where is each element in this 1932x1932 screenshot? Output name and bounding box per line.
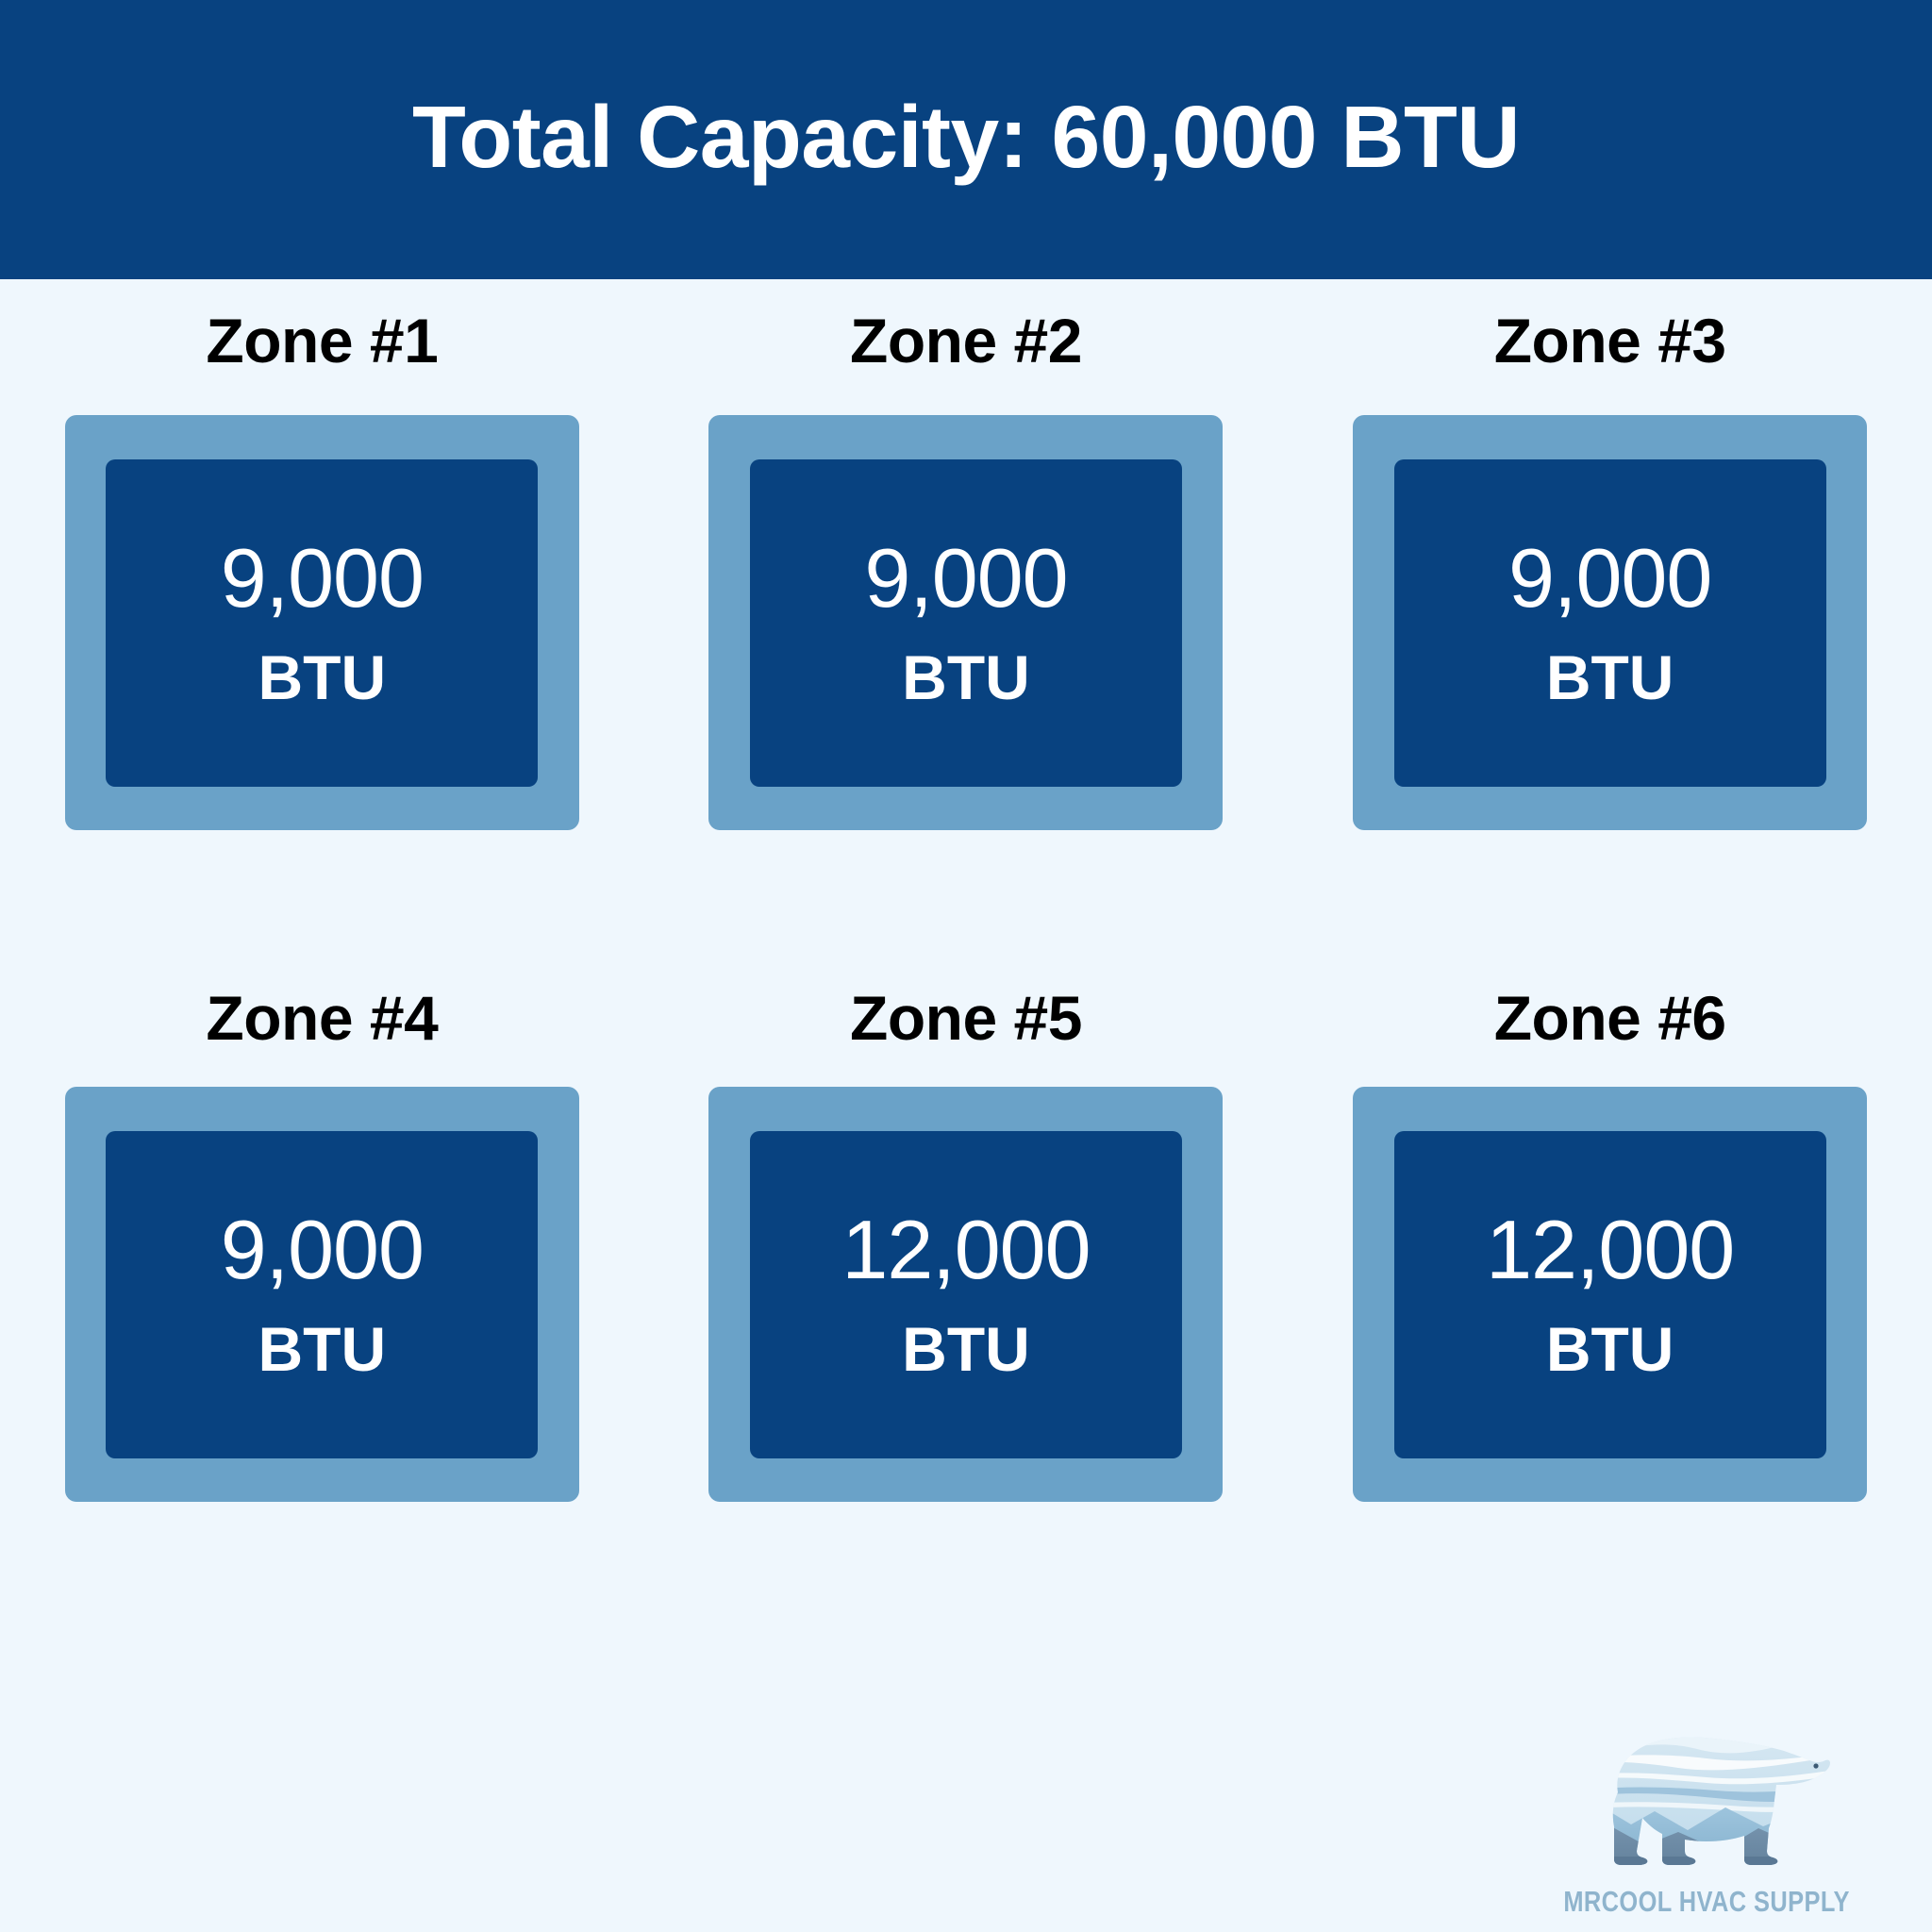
zone-cell-6: Zone #6 12,000 BTU — [1288, 977, 1932, 1675]
zone-card-6[interactable]: 12,000 BTU — [1353, 1087, 1867, 1502]
zone-btu-unit-6: BTU — [1546, 1318, 1674, 1380]
zone-label-1: Zone #1 — [206, 309, 438, 372]
zone-btu-unit-1: BTU — [258, 646, 387, 708]
zone-capacity-box-3: 9,000 BTU — [1394, 459, 1826, 787]
zone-card-1[interactable]: 9,000 BTU — [65, 415, 579, 830]
zone-card-2[interactable]: 9,000 BTU — [708, 415, 1223, 830]
zone-btu-value-3: 9,000 — [1508, 537, 1711, 620]
zone-btu-value-2: 9,000 — [864, 537, 1067, 620]
zone-btu-unit-3: BTU — [1546, 646, 1674, 708]
zone-label-6: Zone #6 — [1494, 987, 1726, 1049]
zone-capacity-box-2: 9,000 BTU — [750, 459, 1182, 787]
zone-label-2: Zone #2 — [850, 309, 1082, 372]
page-title: Total Capacity: 60,000 BTU — [412, 93, 1520, 181]
zone-btu-unit-5: BTU — [902, 1318, 1030, 1380]
logo-wordmark: MRCOOL HVAC SUPPLY — [1563, 1885, 1850, 1919]
zone-btu-value-1: 9,000 — [221, 537, 424, 620]
zone-cell-3: Zone #3 9,000 BTU — [1288, 279, 1932, 977]
zone-capacity-box-4: 9,000 BTU — [106, 1131, 538, 1458]
zone-card-3[interactable]: 9,000 BTU — [1353, 415, 1867, 830]
zone-card-5[interactable]: 12,000 BTU — [708, 1087, 1223, 1502]
zone-cell-1: Zone #1 9,000 BTU — [0, 279, 644, 977]
zone-cell-2: Zone #2 9,000 BTU — [644, 279, 1289, 977]
zone-grid: Zone #1 9,000 BTU Zone #2 9,000 BTU Zone… — [0, 279, 1932, 1675]
zone-btu-value-6: 12,000 — [1486, 1208, 1734, 1291]
header-banner: Total Capacity: 60,000 BTU — [0, 0, 1932, 279]
zone-capacity-box-5: 12,000 BTU — [750, 1131, 1182, 1458]
polar-bear-icon — [1565, 1713, 1848, 1883]
zone-capacity-box-6: 12,000 BTU — [1394, 1131, 1826, 1458]
zone-capacity-box-1: 9,000 BTU — [106, 459, 538, 787]
zone-cell-5: Zone #5 12,000 BTU — [644, 977, 1289, 1675]
zone-btu-value-5: 12,000 — [841, 1208, 1090, 1291]
zone-cell-4: Zone #4 9,000 BTU — [0, 977, 644, 1675]
zone-label-5: Zone #5 — [850, 987, 1082, 1049]
zone-card-4[interactable]: 9,000 BTU — [65, 1087, 579, 1502]
zone-btu-unit-4: BTU — [258, 1318, 387, 1380]
zone-btu-unit-2: BTU — [902, 646, 1030, 708]
zone-btu-value-4: 9,000 — [221, 1208, 424, 1291]
zone-label-3: Zone #3 — [1494, 309, 1726, 372]
zone-label-4: Zone #4 — [206, 987, 438, 1049]
brand-logo: MRCOOL HVAC SUPPLY — [1523, 1692, 1890, 1919]
